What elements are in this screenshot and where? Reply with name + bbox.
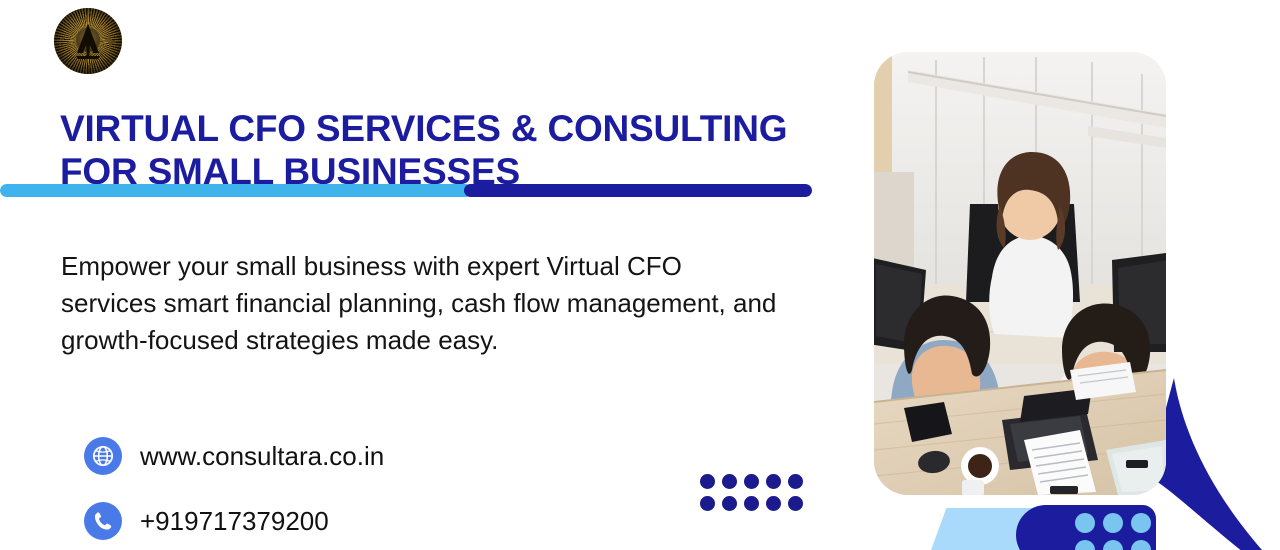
decorative-dot-grid xyxy=(700,474,810,518)
decorative-accent-dots xyxy=(1075,513,1159,550)
accent-dot xyxy=(1103,513,1123,533)
divider-segment-dark xyxy=(464,184,812,197)
dot xyxy=(788,496,803,511)
phone-number-text: +919717379200 xyxy=(140,506,329,537)
accent-dot xyxy=(1075,540,1095,550)
dot xyxy=(744,496,759,511)
team-meeting-photo xyxy=(874,52,1166,495)
dot xyxy=(700,496,715,511)
contact-website[interactable]: www.consultara.co.in xyxy=(84,437,384,475)
accent-divider xyxy=(0,184,812,197)
brand-logo[interactable] xyxy=(46,6,130,76)
dot xyxy=(766,496,781,511)
dot xyxy=(722,496,737,511)
banner-canvas: VIRTUAL CFO SERVICES & CONSULTING FOR SM… xyxy=(0,0,1280,550)
contact-phone[interactable]: +919717379200 xyxy=(84,502,329,540)
page-title: VIRTUAL CFO SERVICES & CONSULTING FOR SM… xyxy=(60,107,860,194)
body-description: Empower your small business with expert … xyxy=(61,248,781,359)
accent-dot xyxy=(1103,540,1123,550)
accent-dot xyxy=(1075,513,1095,533)
shield-monogram-a-logo-icon xyxy=(54,8,122,74)
dot xyxy=(700,474,715,489)
accent-dot xyxy=(1131,540,1151,550)
dot xyxy=(766,474,781,489)
globe-icon xyxy=(84,437,122,475)
divider-segment-light xyxy=(0,184,472,197)
dot xyxy=(788,474,803,489)
dot xyxy=(744,474,759,489)
website-url-text: www.consultara.co.in xyxy=(140,441,384,472)
dot xyxy=(722,474,737,489)
accent-dot xyxy=(1131,513,1151,533)
phone-icon xyxy=(84,502,122,540)
